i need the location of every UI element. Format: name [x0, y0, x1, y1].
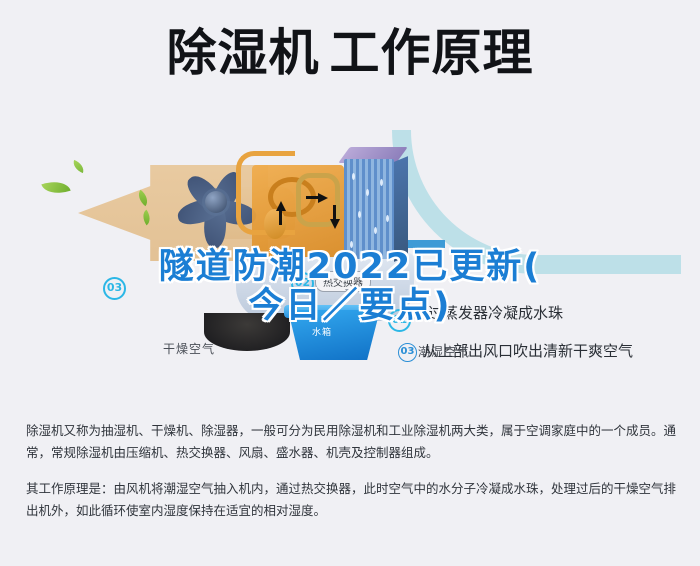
machine-base [204, 313, 290, 351]
flow-arrow-down [330, 219, 340, 229]
step-line-02: …经过蒸发器冷凝成水珠 [398, 302, 563, 323]
step-text-03: 从上部出风口吹出清新干爽空气 [423, 342, 633, 360]
article-body: 除湿机又称为抽湿机、干燥机、除湿器，一般可分为民用除湿机和工业除湿机两大类，属于… [26, 420, 676, 536]
leaf-icon [71, 160, 86, 173]
title-part-one: 除湿机 [167, 24, 320, 82]
evaporator-side [394, 156, 408, 262]
flow-arrow-up-shaft [279, 211, 282, 225]
flow-arrow-down-shaft [333, 205, 336, 219]
water-tank [288, 310, 380, 360]
dry-air-label: 干燥空气 [163, 340, 215, 357]
flow-arrow-up [276, 201, 286, 211]
callout-badge-02: 02 [291, 272, 314, 295]
body-paragraph-1: 除湿机又称为抽湿机、干燥机、除湿器，一般可分为民用除湿机和工业除湿机两大类，属于… [26, 420, 676, 464]
title-part-two: 工作原理 [330, 24, 534, 82]
poster-root: 除湿机工作原理 [0, 0, 700, 566]
leaf-icon [41, 176, 70, 198]
body-paragraph-2: 其工作原理是：由风机将潮湿空气抽入机内，通过热交换器，此时空气中的水分子冷凝成水… [26, 478, 676, 522]
humid-air-arrow [392, 130, 681, 274]
page-title: 除湿机工作原理 [0, 28, 700, 78]
heat-exchanger-callout: 热交换器 [315, 271, 371, 292]
callout-pointer-icon [345, 289, 355, 298]
step-badge-03: 03 [398, 343, 417, 362]
callout-badge-03: 03 [103, 277, 126, 300]
evaporator-fins [344, 159, 394, 259]
step-line-03: 03从上部出风口吹出清新干爽空气 [398, 340, 633, 362]
water-tank-label: 水箱 [312, 325, 332, 338]
flow-arrow-right [318, 193, 328, 203]
compressor-icon [264, 209, 286, 239]
